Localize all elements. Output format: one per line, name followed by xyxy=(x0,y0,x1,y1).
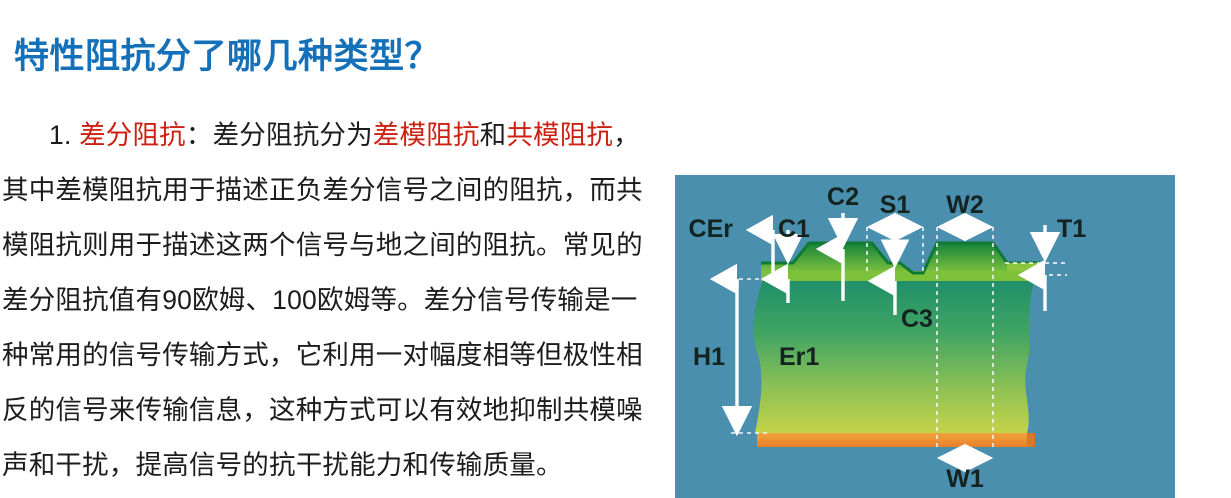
bottom-copper-plane xyxy=(757,433,1027,447)
label-c1: C1 xyxy=(778,215,810,243)
label-t1: T1 xyxy=(1057,215,1086,243)
line1-text-a: ：差分阻抗分为 xyxy=(186,120,373,150)
label-er1: Er1 xyxy=(779,343,819,371)
page-title: 特性阻抗分了哪几种类型？ xyxy=(14,35,614,79)
line1-text-b: 和 xyxy=(480,120,507,150)
label-w1: W1 xyxy=(946,465,984,493)
bottom-copper-edge xyxy=(1027,433,1035,447)
pcb-cross-section-figure: CEr C1 C2 S1 W2 xyxy=(675,175,1175,498)
line1-text-c: ， xyxy=(613,120,640,150)
soldermask-base-layer xyxy=(761,271,1040,281)
article-body: 1. 差分阻抗：差分阻抗分为差模阻抗和共模阻抗， 其中差模阻抗用于描述正负差分信… xyxy=(2,108,618,493)
label-s1: S1 xyxy=(880,191,911,219)
paragraph-line-5: 种常用的信号传输方式，它利用一对幅度相等但极性相 xyxy=(2,328,618,383)
pcb-cross-section-diagram: CEr C1 C2 S1 W2 xyxy=(675,175,1175,498)
paragraph-line-7: 声和干扰，提高信号的抗干扰能力和传输质量。 xyxy=(2,438,618,493)
term-common-mode-impedance: 共模阻抗 xyxy=(506,120,613,150)
list-number: 1. xyxy=(49,120,79,150)
label-cer: CEr xyxy=(689,215,734,243)
label-h1: H1 xyxy=(693,343,725,371)
paragraph-line-2: 其中差模阻抗用于描述正负差分信号之间的阻抗，而共 xyxy=(2,163,618,218)
label-c2: C2 xyxy=(827,183,859,211)
paragraph-line-4: 差分阻抗值有90欧姆、100欧姆等。差分信号传输是一 xyxy=(2,273,618,328)
paragraph-line-6: 反的信号来传输信息，这种方式可以有效地抑制共模噪 xyxy=(2,383,618,438)
soldermask-right-ledge xyxy=(1007,263,1040,271)
term-differential-impedance: 差分阻抗 xyxy=(79,120,186,150)
label-c3: C3 xyxy=(901,305,933,333)
term-differential-mode-impedance: 差模阻抗 xyxy=(373,120,480,150)
label-w2: W2 xyxy=(946,191,984,219)
paragraph-line-1: 1. 差分阻抗：差分阻抗分为差模阻抗和共模阻抗， xyxy=(2,108,618,163)
paragraph-line-3: 模阻抗则用于描述这两个信号与地之间的阻抗。常见的 xyxy=(2,218,618,273)
